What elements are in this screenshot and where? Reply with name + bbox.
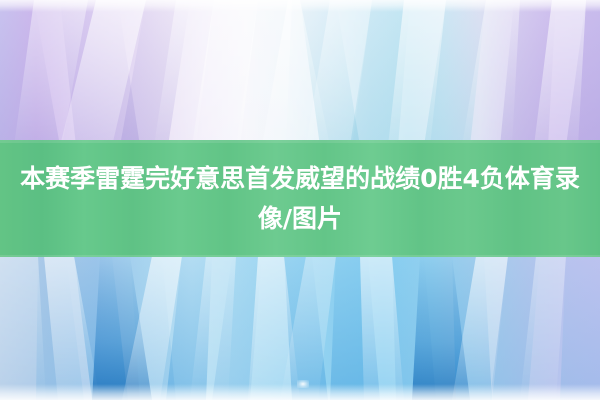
caption-band-bottom-edge	[0, 255, 600, 257]
caption-band: 本赛季雷霆完好意思首发威望的战绩0胜4负体育录像/图片	[0, 140, 600, 257]
caption-text: 本赛季雷霆完好意思首发威望的战绩0胜4负体育录像/图片	[4, 159, 596, 239]
caption-band-top-edge	[0, 140, 600, 143]
image-canvas: 本赛季雷霆完好意思首发威望的战绩0胜4负体育录像/图片	[0, 0, 600, 400]
top-facet-polygons	[0, 0, 600, 146]
background-top-section	[0, 0, 600, 146]
background-bottom-section	[0, 256, 600, 400]
bottom-facet-polygons	[0, 256, 600, 400]
